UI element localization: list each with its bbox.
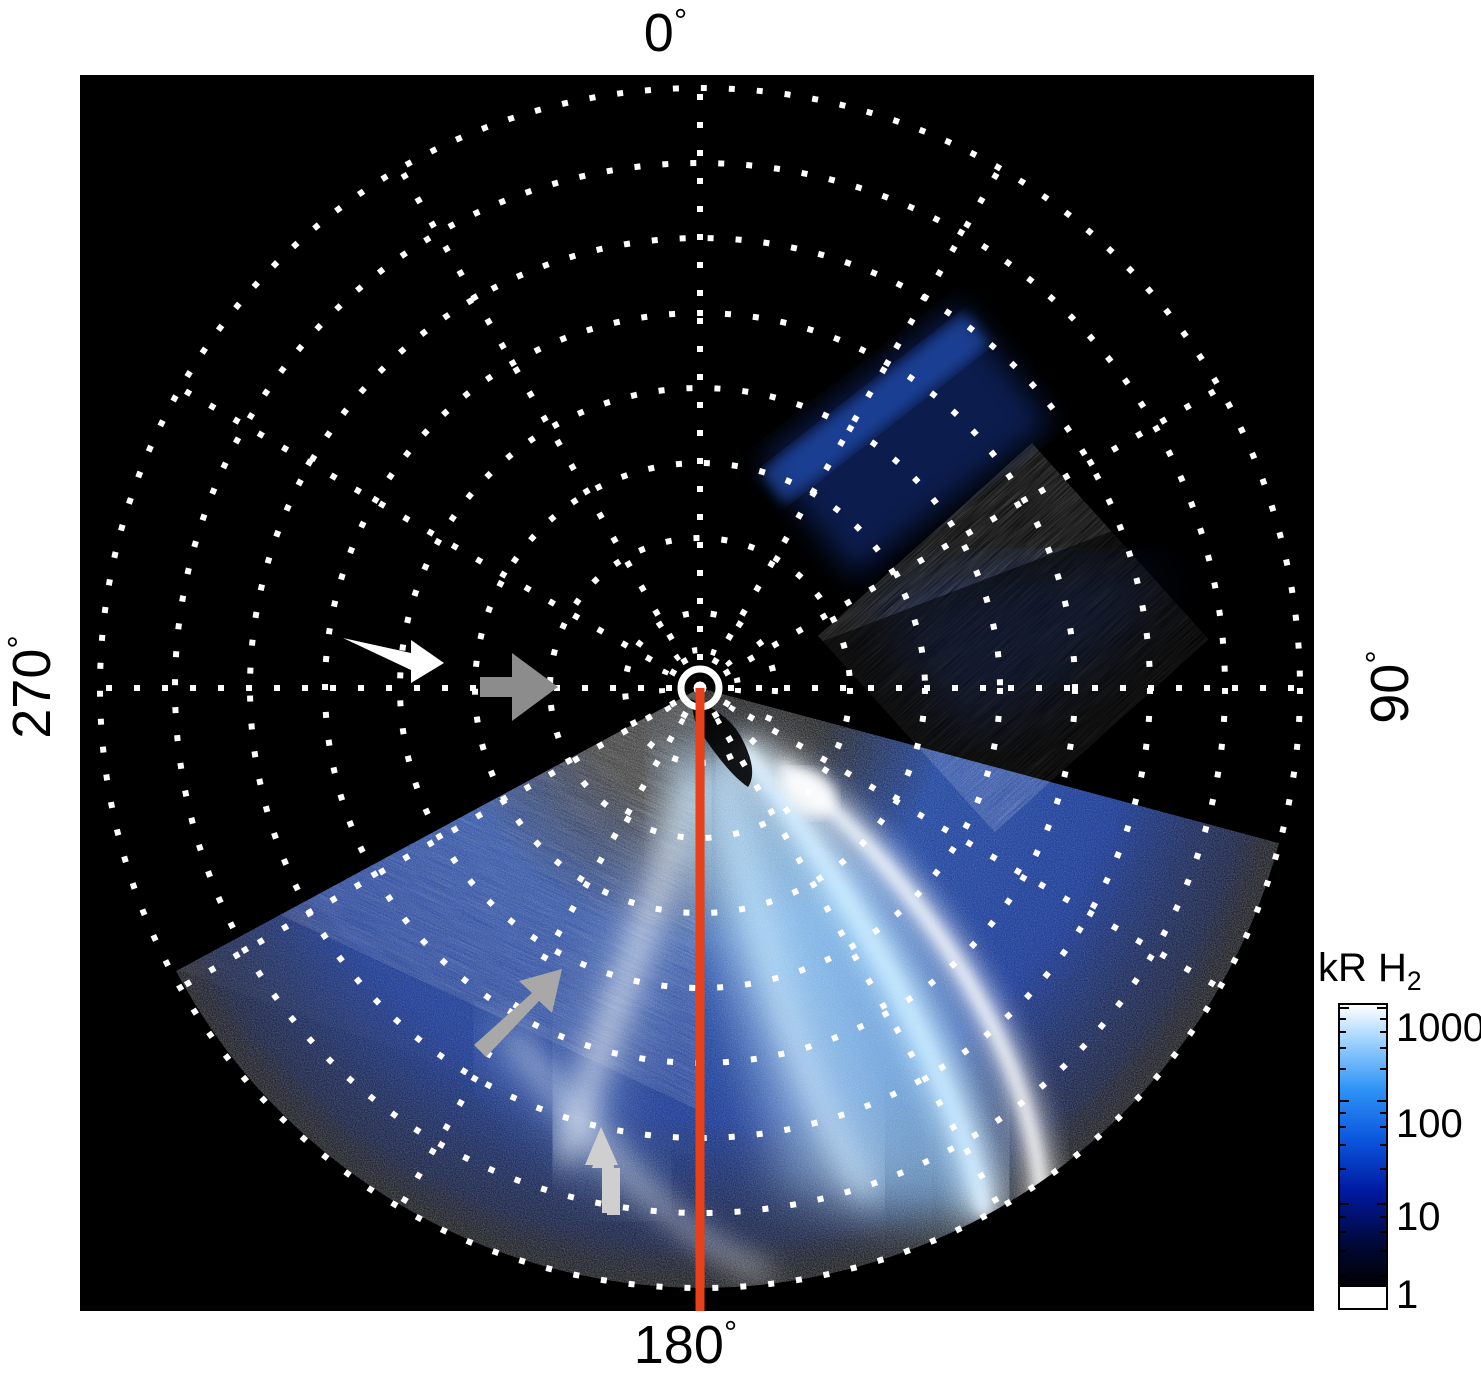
- colorbar-tick-1000: 1000: [1396, 1008, 1481, 1048]
- axis-label-90: 90°: [1363, 597, 1417, 777]
- axis-label-270: 270°: [5, 597, 59, 777]
- polar-plot-svg: [80, 75, 1314, 1311]
- figure-root: 0° 180° 270° 90°: [0, 0, 1481, 1386]
- polar-plot-area: [80, 75, 1314, 1311]
- colorbar-tick-100: 100: [1396, 1104, 1463, 1144]
- axis-label-180: 180°: [0, 1318, 1481, 1372]
- axis-label-0: 0°: [0, 6, 1481, 60]
- colorbar-tick-10: 10: [1396, 1197, 1441, 1237]
- colorbar-title: kR H2: [1318, 946, 1422, 991]
- colorbar-tick-1: 1: [1396, 1275, 1418, 1315]
- colorbar: [1338, 1003, 1388, 1310]
